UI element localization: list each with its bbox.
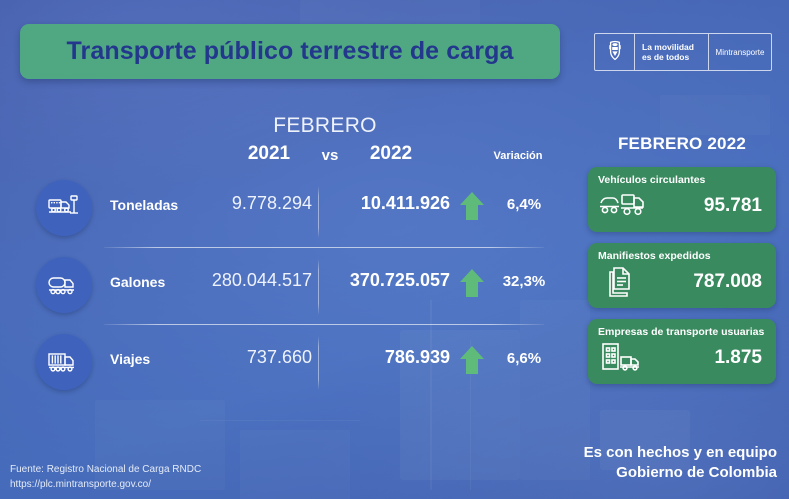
- row-variation: 6,6%: [484, 350, 564, 367]
- row-value-2022: 786.939: [326, 347, 450, 368]
- stat-card-vehiculos-circulantes: Vehículos circulantes: [588, 167, 776, 232]
- panel-title: FEBRERO 2022: [588, 134, 776, 154]
- building-truck-icon: [598, 341, 646, 375]
- row-value-2022: 370.725.057: [326, 270, 450, 291]
- stat-card-empresas-transporte: Empresas de transporte usuarias: [588, 319, 776, 384]
- source-line-1: Fuente: Registro Nacional de Carga RNDC: [10, 463, 201, 478]
- source-url[interactable]: https://plc.mintransporte.gov.co/: [10, 478, 201, 493]
- stat-card-value: 787.008: [646, 271, 766, 293]
- stat-card-caption: Manifiestos expedidos: [598, 250, 766, 263]
- colombia-coat-of-arms-icon: [595, 34, 635, 70]
- stat-card-caption: Vehículos circulantes: [598, 174, 766, 187]
- row-variation: 6,4%: [484, 196, 564, 213]
- row-value-2021: 280.044.517: [200, 270, 312, 291]
- stat-card-value: 95.781: [646, 195, 766, 217]
- source-note: Fuente: Registro Nacional de Carga RNDC …: [10, 463, 201, 492]
- table-row: Viajes 737.660 786.939 6,6%: [14, 332, 569, 394]
- slogan-line-2: Gobierno de Colombia: [584, 463, 777, 483]
- cargo-truck-icon: [36, 334, 92, 390]
- stat-card-value: 1.875: [646, 347, 766, 369]
- government-slogan: Es con hechos y en equipo Gobierno de Co…: [584, 443, 777, 483]
- government-logo: La movilidad es de todos Mintransporte: [594, 33, 772, 71]
- slogan-line-1: Es con hechos y en equipo: [584, 443, 777, 463]
- table-header-month: FEBRERO: [250, 114, 400, 138]
- arrow-up-icon: [457, 343, 487, 377]
- row-divider: [104, 324, 544, 325]
- arrow-up-icon: [457, 189, 487, 223]
- row-divider: [104, 247, 544, 248]
- stat-card-caption: Empresas de transporte usuarias: [598, 326, 766, 339]
- row-value-2021: 737.660: [200, 347, 312, 368]
- stat-card-manifiestos-expedidos: Manifiestos expedidos 787.008: [588, 243, 776, 308]
- logo-motto: La movilidad es de todos: [635, 34, 709, 70]
- table-header-year-2021: 2021: [226, 143, 312, 165]
- comparison-table: FEBRERO 2021 vs 2022 Variación: [14, 114, 569, 404]
- statistics-panel: FEBRERO 2022 Vehículos circulantes: [588, 134, 776, 395]
- row-value-2021: 9.778.294: [200, 193, 312, 214]
- slide-title-banner: Transporte público terrestre de carga: [20, 24, 560, 79]
- table-row: Galones 280.044.517 370.725.057 32,3%: [14, 255, 569, 317]
- table-header-vs: vs: [310, 147, 350, 164]
- table-header-variation: Variación: [473, 150, 563, 162]
- row-value-2022: 10.411.926: [326, 193, 450, 214]
- infographic-slide: Transporte público terrestre de carga La…: [0, 0, 789, 499]
- table-row: Toneladas 9.778.294 10.411.926 6,4%: [14, 178, 569, 240]
- logo-ministry: Mintransporte: [709, 34, 771, 70]
- table-header-year-2022: 2022: [348, 143, 434, 165]
- tanker-truck-icon: [36, 257, 92, 313]
- logo-motto-line2: es de todos: [642, 52, 694, 62]
- arrow-up-icon: [457, 266, 487, 300]
- documents-icon: [598, 265, 646, 299]
- logo-ministry-label: Mintransporte: [716, 48, 765, 57]
- page-title: Transporte público terrestre de carga: [67, 37, 514, 66]
- truck-on-weighing-scale-icon: [36, 180, 92, 236]
- logo-motto-line1: La movilidad: [642, 42, 694, 52]
- tow-truck-icon: [598, 189, 646, 223]
- row-variation: 32,3%: [484, 273, 564, 290]
